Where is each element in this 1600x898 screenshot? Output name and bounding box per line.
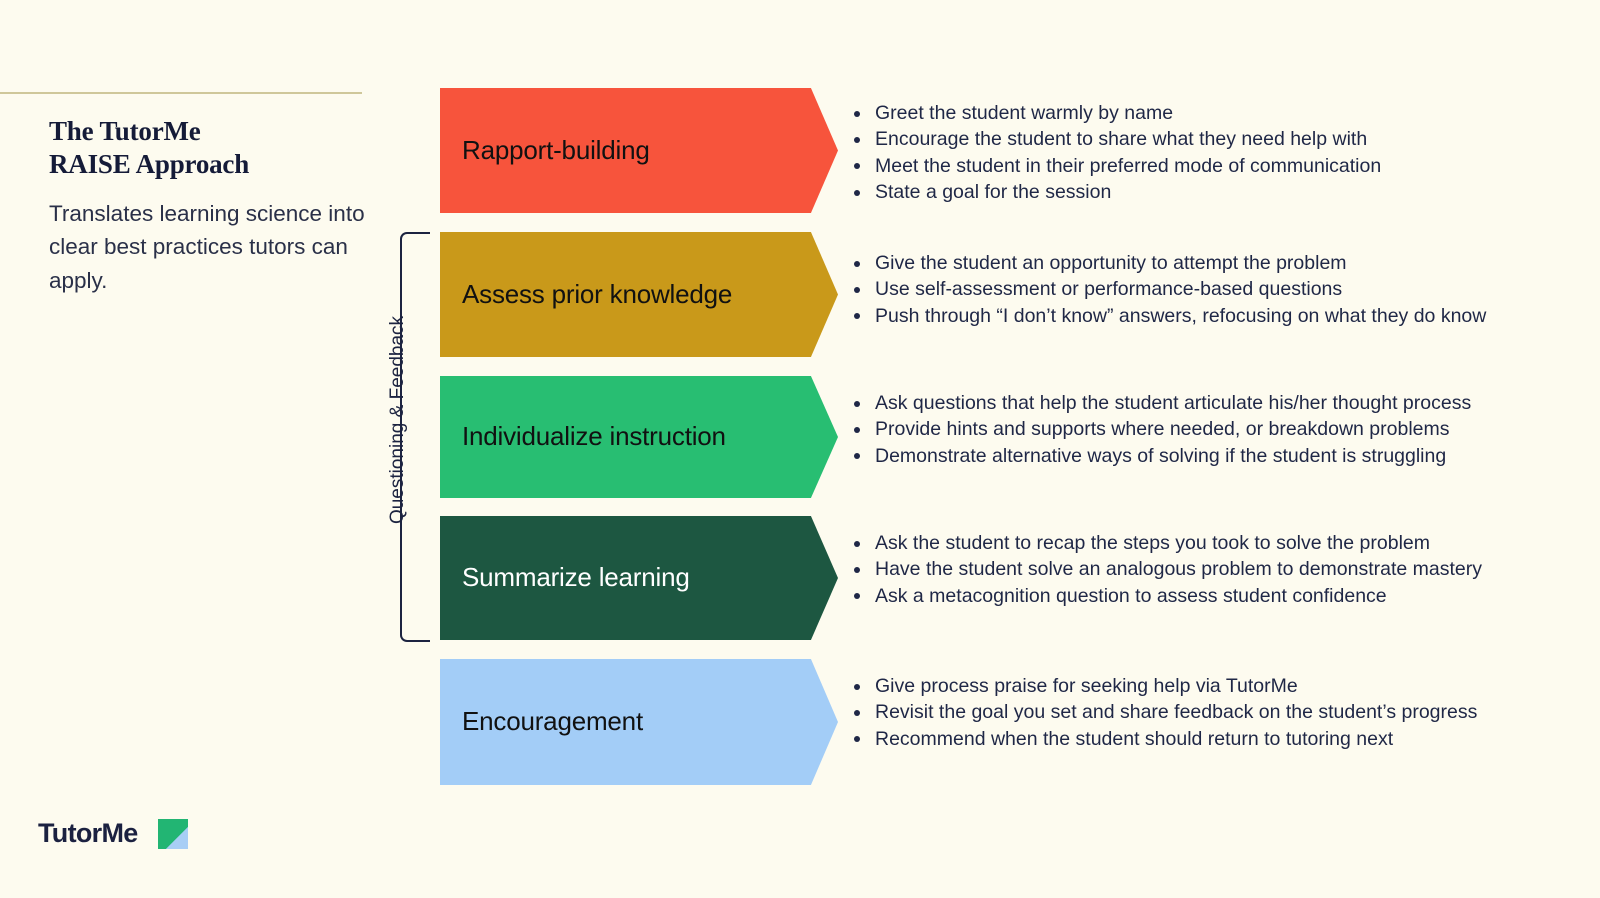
- raise-step-row: Summarize learningAsk the student to rec…: [440, 516, 1600, 640]
- bullet-item: Give the student an opportunity to attem…: [845, 250, 1486, 276]
- step-label: Assess prior knowledge: [440, 280, 732, 310]
- step-bullet-list: Greet the student warmly by nameEncourag…: [845, 100, 1381, 206]
- bullet-item: Encourage the student to share what they…: [845, 126, 1381, 152]
- step-label: Individualize instruction: [440, 422, 726, 452]
- step-bullet-list: Give process praise for seeking help via…: [845, 673, 1477, 752]
- step-bullet-list: Ask questions that help the student arti…: [845, 390, 1471, 469]
- bullet-item: State a goal for the session: [845, 179, 1381, 205]
- bullet-item: Revisit the goal you set and share feedb…: [845, 699, 1477, 725]
- step-chevron-5[interactable]: Encouragement: [440, 659, 838, 785]
- bullet-item: Give process praise for seeking help via…: [845, 673, 1477, 699]
- raise-step-row: Rapport-buildingGreet the student warmly…: [440, 88, 1600, 213]
- bullet-item: Ask questions that help the student arti…: [845, 390, 1471, 416]
- bullet-item: Use self-assessment or performance-based…: [845, 276, 1486, 302]
- bullet-item: Greet the student warmly by name: [845, 100, 1381, 126]
- bullet-item: Meet the student in their preferred mode…: [845, 153, 1381, 179]
- bullet-item: Have the student solve an analogous prob…: [845, 556, 1482, 582]
- bullet-item: Push through “I don’t know” answers, ref…: [845, 303, 1486, 329]
- step-label: Summarize learning: [440, 563, 690, 593]
- step-chevron-1[interactable]: Rapport-building: [440, 88, 838, 213]
- bullet-item: Ask a metacognition question to assess s…: [845, 583, 1482, 609]
- step-label: Rapport-building: [440, 136, 650, 166]
- step-bullet-list: Give the student an opportunity to attem…: [845, 250, 1486, 329]
- bullet-item: Provide hints and supports where needed,…: [845, 416, 1471, 442]
- bullet-item: Demonstrate alternative ways of solving …: [845, 443, 1471, 469]
- step-chevron-3[interactable]: Individualize instruction: [440, 376, 838, 498]
- bullet-item: Recommend when the student should return…: [845, 726, 1477, 752]
- raise-steps-list: Rapport-buildingGreet the student warmly…: [0, 0, 1600, 898]
- raise-step-row: EncouragementGive process praise for see…: [440, 659, 1600, 785]
- step-label: Encouragement: [440, 707, 643, 737]
- step-chevron-2[interactable]: Assess prior knowledge: [440, 232, 838, 357]
- raise-step-row: Individualize instructionAsk questions t…: [440, 376, 1600, 498]
- bullet-item: Ask the student to recap the steps you t…: [845, 530, 1482, 556]
- step-chevron-4[interactable]: Summarize learning: [440, 516, 838, 640]
- raise-step-row: Assess prior knowledgeGive the student a…: [440, 232, 1600, 357]
- step-bullet-list: Ask the student to recap the steps you t…: [845, 530, 1482, 609]
